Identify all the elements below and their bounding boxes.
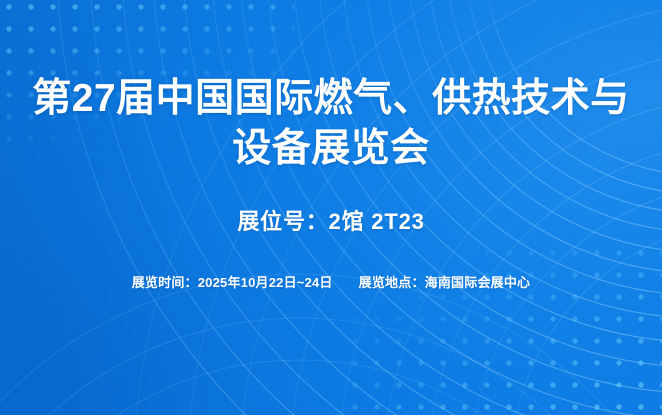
banner-title: 第27届中国国际燃气、供热技术与 设备展览会 (21, 74, 641, 174)
exhibition-place-text: 展览地点：海南国际会展中心 (359, 273, 531, 293)
banner-content: 第27届中国国际燃气、供热技术与 设备展览会 展位号：2馆 2T23 展览时间：… (0, 0, 662, 415)
title-line-2: 设备展览会 (21, 124, 641, 174)
booth-number-label: 展位号：2馆 2T23 (237, 207, 424, 237)
exhibition-time-text: 展览时间：2025年10月22日~24日 (132, 273, 333, 293)
banner-meta: 展览时间：2025年10月22日~24日 展览地点：海南国际会展中心 (132, 273, 531, 293)
title-line-1: 第27届中国国际燃气、供热技术与 (21, 74, 641, 124)
exhibition-banner: 第27届中国国际燃气、供热技术与 设备展览会 展位号：2馆 2T23 展览时间：… (0, 0, 662, 415)
